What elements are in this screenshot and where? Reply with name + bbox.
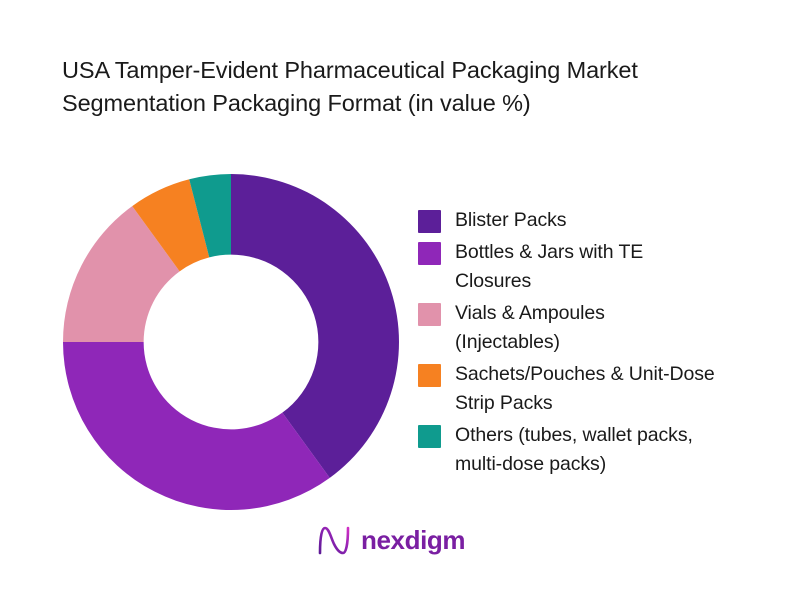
legend-item-label: Vials & Ampoules (Injectables) (455, 299, 605, 357)
nexdigm-n-mark-icon (316, 524, 352, 556)
legend-item-label: Blister Packs (455, 206, 566, 235)
donut-chart (63, 174, 399, 510)
legend-item-label: Others (tubes, wallet packs, multi-dose … (455, 421, 693, 479)
brand-logo: nexdigm (316, 524, 465, 556)
legend-item[interactable]: Sachets/Pouches & Unit-Dose Strip Packs (418, 360, 793, 418)
legend-color-swatch (418, 364, 441, 387)
donut-slice[interactable] (63, 342, 330, 510)
donut-chart-svg (63, 174, 399, 510)
legend-item[interactable]: Vials & Ampoules (Injectables) (418, 299, 793, 357)
legend-item[interactable]: Others (tubes, wallet packs, multi-dose … (418, 421, 793, 479)
page-title: USA Tamper-Evident Pharmaceutical Packag… (62, 54, 792, 120)
chart-legend: Blister PacksBottles & Jars with TE Clos… (418, 206, 793, 482)
brand-name: nexdigm (361, 527, 465, 553)
legend-item-label: Sachets/Pouches & Unit-Dose Strip Packs (455, 360, 715, 418)
legend-color-swatch (418, 210, 441, 233)
legend-color-swatch (418, 303, 441, 326)
donut-slice-group (63, 174, 399, 510)
legend-item-label: Bottles & Jars with TE Closures (455, 238, 643, 296)
legend-item[interactable]: Blister Packs (418, 206, 793, 235)
legend-item[interactable]: Bottles & Jars with TE Closures (418, 238, 793, 296)
chart-page: USA Tamper-Evident Pharmaceutical Packag… (0, 0, 800, 600)
legend-color-swatch (418, 242, 441, 265)
legend-color-swatch (418, 425, 441, 448)
